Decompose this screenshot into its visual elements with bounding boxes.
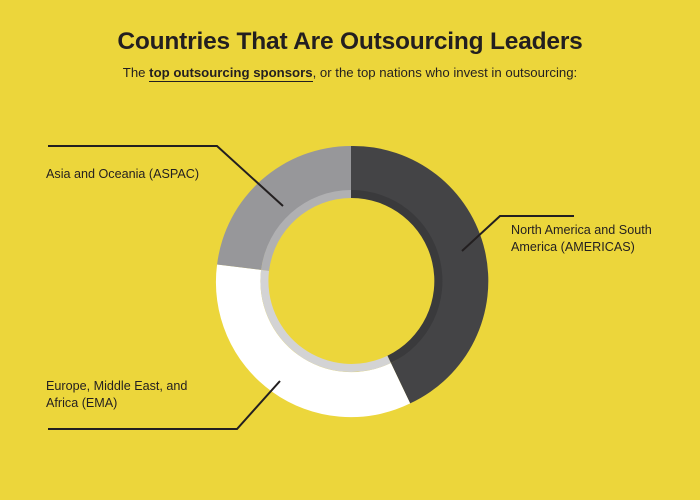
callout-label-aspac: Asia and Oceania (ASPAC) (46, 166, 276, 183)
callout-label-americas: North America and South America (AMERICA… (511, 222, 686, 255)
callout-label-ema: Europe, Middle East, and Africa (EMA) (46, 378, 276, 411)
infographic-canvas: Countries That Are Outsourcing Leaders T… (0, 0, 700, 500)
